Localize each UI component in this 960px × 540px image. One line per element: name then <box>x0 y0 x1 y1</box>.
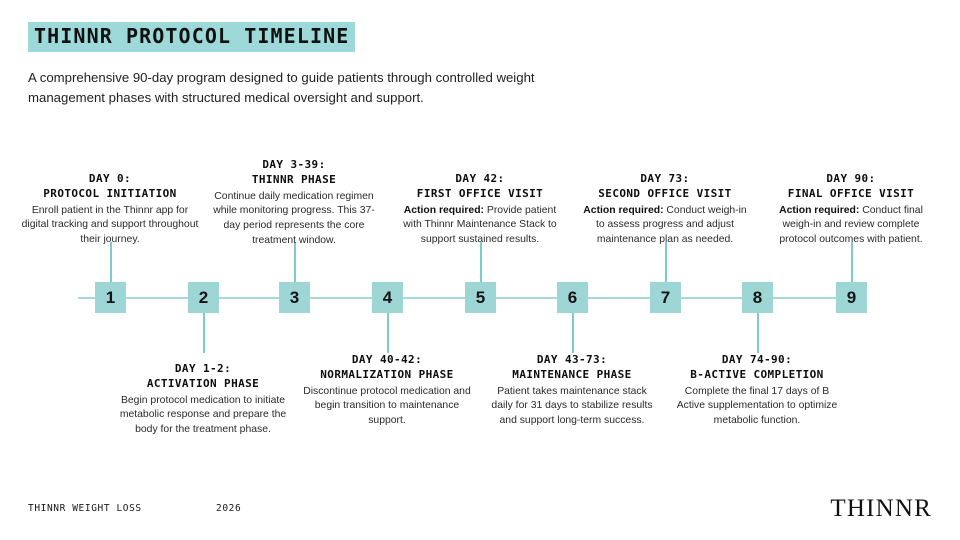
entry-description: Action required: Conduct final weigh-in … <box>769 204 934 248</box>
entry-day-label: DAY 42: <box>398 172 563 187</box>
entry-description: Begin protocol medication to initiate me… <box>113 394 293 438</box>
entry-description: Patient takes maintenance stack daily fo… <box>490 385 655 429</box>
timeline-stem-4 <box>387 313 389 353</box>
brand-logo: THINNR <box>830 495 932 523</box>
footer-year: 2026 <box>216 503 241 514</box>
timeline-stem-6 <box>572 313 574 353</box>
entry-action-label: Action required: <box>583 205 663 216</box>
timeline-entry-2: DAY 1-2:ACTIVATION PHASEBegin protocol m… <box>113 362 293 438</box>
timeline-entry-9: DAY 90:FINAL OFFICE VISITAction required… <box>769 172 934 248</box>
protocol-timeline: 123456789 DAY 0:PROTOCOL INITIATIONEnrol… <box>0 0 960 540</box>
entry-description: Discontinue protocol medication and begi… <box>300 385 475 429</box>
timeline-stem-1 <box>110 242 112 282</box>
timeline-entry-7: DAY 73:SECOND OFFICE VISITAction require… <box>583 172 748 248</box>
entry-phase-title: NORMALIZATION PHASE <box>300 368 475 383</box>
entry-phase-title: B-ACTIVE COMPLETION <box>675 368 840 383</box>
timeline-node-2[interactable]: 2 <box>188 282 219 313</box>
entry-description: Enroll patient in the Thinnr app for dig… <box>20 204 200 248</box>
entry-description: Continue daily medication regimen while … <box>207 190 382 249</box>
timeline-stem-7 <box>665 242 667 282</box>
timeline-node-4[interactable]: 4 <box>372 282 403 313</box>
timeline-node-6[interactable]: 6 <box>557 282 588 313</box>
timeline-entry-6: DAY 43-73:MAINTENANCE PHASEPatient takes… <box>490 353 655 429</box>
timeline-node-1[interactable]: 1 <box>95 282 126 313</box>
timeline-entry-8: DAY 74-90:B-ACTIVE COMPLETIONComplete th… <box>675 353 840 429</box>
timeline-node-5[interactable]: 5 <box>465 282 496 313</box>
timeline-stem-5 <box>480 242 482 282</box>
timeline-node-3[interactable]: 3 <box>279 282 310 313</box>
entry-day-label: DAY 3-39: <box>207 158 382 173</box>
entry-description: Complete the final 17 days of B Active s… <box>675 385 840 429</box>
entry-day-label: DAY 1-2: <box>113 362 293 377</box>
footer-company-label: THINNR WEIGHT LOSS <box>28 503 142 514</box>
timeline-entry-3: DAY 3-39:THINNR PHASEContinue daily medi… <box>207 158 382 249</box>
timeline-stem-9 <box>851 242 853 282</box>
entry-phase-title: PROTOCOL INITIATION <box>20 187 200 202</box>
entry-action-label: Action required: <box>404 205 484 216</box>
timeline-stem-2 <box>203 313 205 353</box>
entry-day-label: DAY 90: <box>769 172 934 187</box>
entry-phase-title: FIRST OFFICE VISIT <box>398 187 563 202</box>
timeline-entry-4: DAY 40-42:NORMALIZATION PHASEDiscontinue… <box>300 353 475 429</box>
timeline-node-8[interactable]: 8 <box>742 282 773 313</box>
timeline-node-9[interactable]: 9 <box>836 282 867 313</box>
entry-day-label: DAY 0: <box>20 172 200 187</box>
timeline-stem-8 <box>757 313 759 353</box>
entry-day-label: DAY 43-73: <box>490 353 655 368</box>
entry-phase-title: THINNR PHASE <box>207 173 382 188</box>
entry-action-label: Action required: <box>779 205 859 216</box>
entry-description: Action required: Conduct weigh-in to ass… <box>583 204 748 248</box>
entry-day-label: DAY 74-90: <box>675 353 840 368</box>
timeline-entry-1: DAY 0:PROTOCOL INITIATIONEnroll patient … <box>20 172 200 248</box>
entry-description: Action required: Provide patient with Th… <box>398 204 563 248</box>
entry-phase-title: ACTIVATION PHASE <box>113 377 293 392</box>
timeline-entry-5: DAY 42:FIRST OFFICE VISITAction required… <box>398 172 563 248</box>
entry-day-label: DAY 40-42: <box>300 353 475 368</box>
timeline-node-7[interactable]: 7 <box>650 282 681 313</box>
entry-phase-title: MAINTENANCE PHASE <box>490 368 655 383</box>
entry-day-label: DAY 73: <box>583 172 748 187</box>
entry-phase-title: SECOND OFFICE VISIT <box>583 187 748 202</box>
entry-phase-title: FINAL OFFICE VISIT <box>769 187 934 202</box>
